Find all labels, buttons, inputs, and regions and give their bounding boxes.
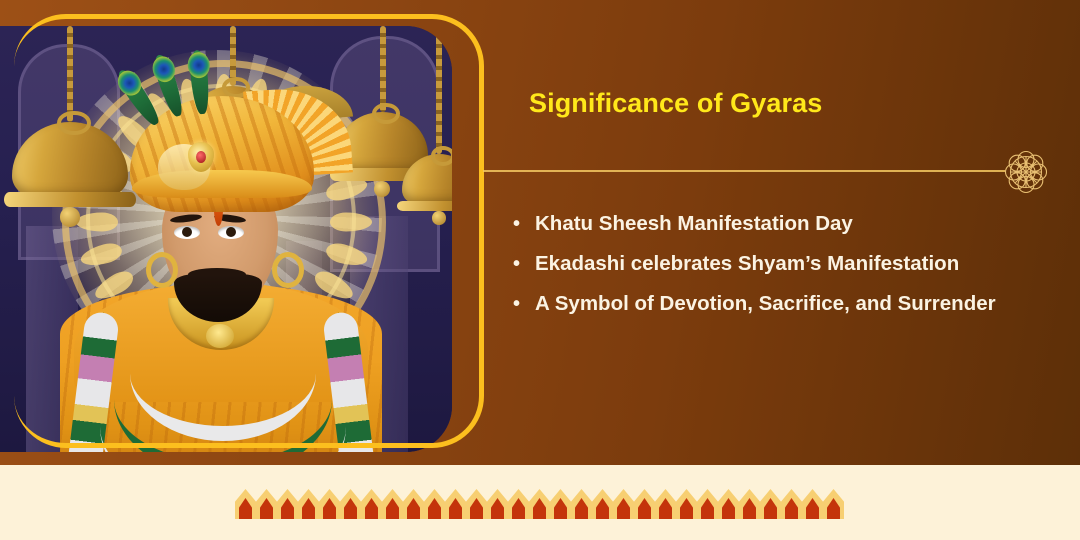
temple-arch-motif — [781, 489, 802, 519]
slide: Significance of Gyaras •Khatu Sheesh Man… — [0, 0, 1080, 540]
temple-arch-motif — [466, 489, 487, 519]
temple-arch-motif — [676, 489, 697, 519]
temple-arch-motif — [424, 489, 445, 519]
temple-arch-motif — [487, 489, 508, 519]
temple-arch-motif — [319, 489, 340, 519]
temple-arch-motif — [235, 489, 256, 519]
list-item-label: Khatu Sheesh Manifestation Day — [535, 204, 1033, 244]
temple-arch-motif — [760, 489, 781, 519]
list-item-label: Ekadashi celebrates Shyam’s Manifestatio… — [535, 244, 1033, 284]
temple-arch-motif — [613, 489, 634, 519]
bullet-dot-icon: • — [513, 244, 535, 284]
temple-arch-motif — [697, 489, 718, 519]
list-item: •A Symbol of Devotion, Sacrifice, and Su… — [513, 284, 1033, 324]
earring — [146, 252, 178, 288]
temple-arch-motif — [550, 489, 571, 519]
temple-arch-motif — [277, 489, 298, 519]
deity-pupil — [226, 227, 236, 237]
temple-arch-motif — [340, 489, 361, 519]
temple-arch-motif — [718, 489, 739, 519]
temple-arch-motif — [445, 489, 466, 519]
temple-bell — [402, 154, 452, 224]
temple-arch-motif — [403, 489, 424, 519]
temple-arch-motif — [655, 489, 676, 519]
bullet-dot-icon: • — [513, 284, 535, 324]
deity-photo — [0, 26, 452, 452]
page-title: Significance of Gyaras — [529, 88, 822, 119]
bell-chain — [67, 26, 73, 122]
mandala-rosette-ornament — [1000, 146, 1052, 198]
bell-chain — [380, 26, 386, 112]
temple-arch-motif — [739, 489, 760, 519]
temple-arch-motif — [382, 489, 403, 519]
list-item-label: A Symbol of Devotion, Sacrifice, and Sur… — [535, 284, 1033, 324]
temple-arch-motif — [571, 489, 592, 519]
temple-arch-motif — [592, 489, 613, 519]
temple-arch-motif — [298, 489, 319, 519]
temple-arch-motif — [508, 489, 529, 519]
earring — [272, 252, 304, 288]
temple-arch-motif — [529, 489, 550, 519]
bullet-dot-icon: • — [513, 204, 535, 244]
bell-chain — [436, 26, 442, 154]
temple-arch-motif — [634, 489, 655, 519]
deity-figure — [96, 86, 346, 452]
title-divider — [483, 170, 1005, 172]
list-item: •Ekadashi celebrates Shyam’s Manifestati… — [513, 244, 1033, 284]
temple-arch-motif — [256, 489, 277, 519]
temple-arch-motif — [802, 489, 823, 519]
deity-pupil — [182, 227, 192, 237]
temple-arch-motif — [361, 489, 382, 519]
temple-arch-border — [235, 489, 844, 519]
temple-arch-motif — [823, 489, 844, 519]
bullet-list: •Khatu Sheesh Manifestation Day•Ekadashi… — [513, 204, 1033, 324]
list-item: •Khatu Sheesh Manifestation Day — [513, 204, 1033, 244]
